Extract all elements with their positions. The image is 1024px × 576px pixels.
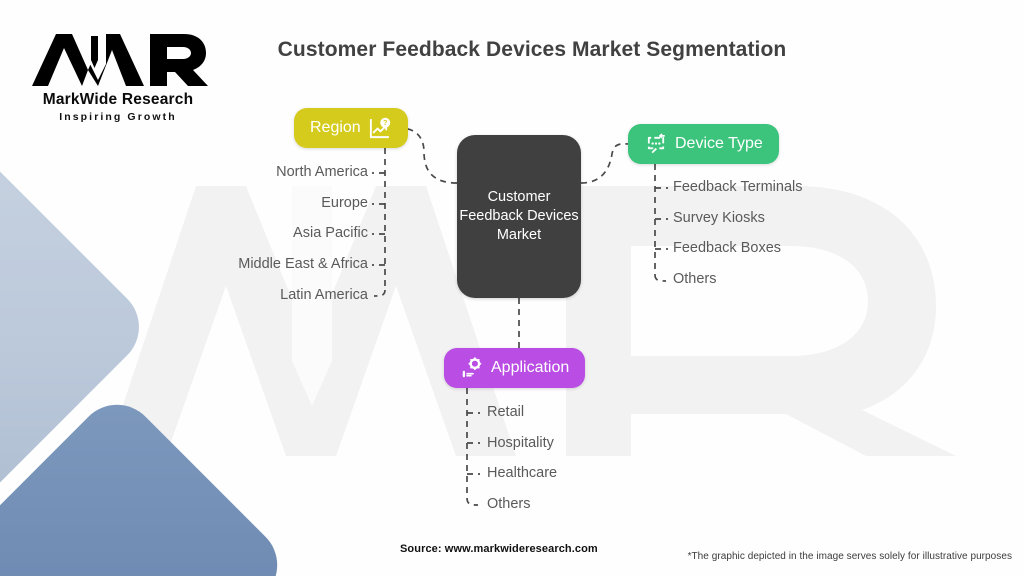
region-item-4: Latin America: [280, 287, 368, 304]
branch-pill-region-label: Region: [310, 119, 361, 137]
branch-pill-region[interactable]: Region ?: [294, 108, 408, 148]
application-item-1: Hospitality: [487, 435, 554, 452]
application-item-0: Retail: [487, 404, 524, 421]
device-type-item-1: Survey Kiosks: [673, 210, 765, 227]
application-item-2: Healthcare: [487, 465, 557, 482]
connector-center-device: [581, 144, 630, 183]
analytics-question-icon: ?: [368, 116, 392, 140]
disclaimer-note: *The graphic depicted in the image serve…: [688, 551, 1012, 562]
device-type-item-3: Others: [673, 271, 717, 288]
application-item-3: Others: [487, 496, 531, 513]
settings-hand-icon: [460, 356, 484, 380]
device-type-item-0: Feedback Terminals: [673, 179, 803, 196]
region-item-1: Europe: [321, 195, 368, 212]
device-type-item-2: Feedback Boxes: [673, 240, 781, 257]
branch-pill-application[interactable]: Application: [444, 348, 585, 388]
center-node: Customer Feedback Devices Market: [457, 135, 581, 298]
branch-pill-device-type-label: Device Type: [675, 135, 763, 153]
connector-center-region: [400, 128, 457, 183]
region-tick-5: [374, 290, 385, 296]
application-tick-4: [467, 498, 478, 505]
region-item-0: North America: [276, 164, 368, 181]
infographic-canvas: MarkWide Research Inspiring Growth Custo…: [0, 0, 1024, 576]
branch-pill-application-label: Application: [491, 359, 569, 377]
svg-text:?: ?: [383, 119, 387, 127]
branch-pill-device-type[interactable]: Device Type: [628, 124, 779, 164]
feedback-chat-icon: [644, 132, 668, 156]
region-item-3: Middle East & Africa: [238, 256, 368, 273]
device-tick-4: [655, 275, 666, 281]
center-node-label: Customer Feedback Devices Market: [457, 188, 581, 245]
region-item-2: Asia Pacific: [293, 225, 368, 242]
source-credit: Source: www.markwideresearch.com: [400, 543, 598, 555]
